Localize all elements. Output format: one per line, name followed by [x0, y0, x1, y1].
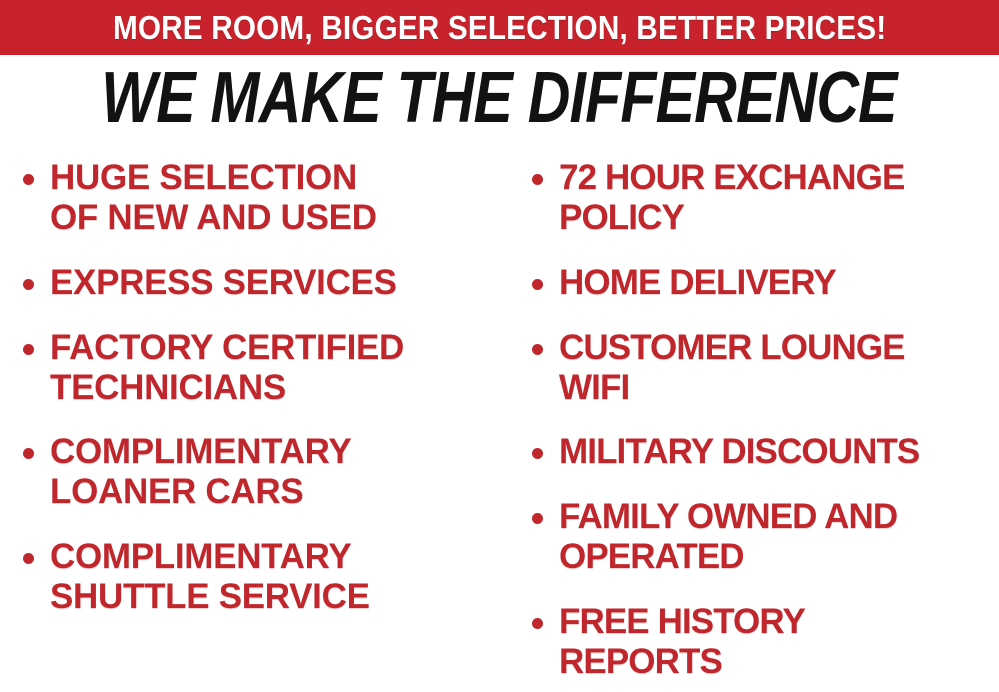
- list-item-line1: EXPRESS SERVICES: [50, 263, 397, 302]
- list-item: HOME DELIVERY: [525, 263, 997, 303]
- announcement-text: MORE ROOM, BIGGER SELECTION, BETTER PRIC…: [113, 11, 886, 44]
- announcement-bar: MORE ROOM, BIGGER SELECTION, BETTER PRIC…: [0, 0, 999, 55]
- headline: WE MAKE THE DIFFERENCE: [0, 62, 999, 135]
- list-item-label: FREE HISTORY REPORTS: [559, 602, 997, 682]
- list-item-label: 72 HOUR EXCHANGE POLICY: [559, 158, 997, 238]
- list-item-line1: CUSTOMER LOUNGE: [559, 328, 905, 367]
- list-item: FREE HISTORY REPORTS: [525, 602, 997, 682]
- list-item-line2: LOANER CARS: [50, 472, 501, 512]
- list-item-label: HUGE SELECTION OF NEW AND USED: [50, 158, 501, 238]
- list-item-line2: TECHNICIANS: [50, 368, 501, 408]
- bullet-dot-icon: [23, 553, 34, 564]
- list-item-line1: HUGE SELECTION: [50, 158, 357, 197]
- list-item-label: COMPLIMENTARY SHUTTLE SERVICE: [50, 537, 501, 617]
- list-item-line2: OPERATED: [559, 537, 997, 577]
- list-item-label: MILITARY DISCOUNTS: [559, 432, 997, 472]
- list-item: MILITARY DISCOUNTS: [525, 432, 997, 472]
- feature-column-right: 72 HOUR EXCHANGE POLICY HOME DELIVERY CU…: [505, 158, 999, 692]
- list-item-label: COMPLIMENTARY LOANER CARS: [50, 432, 501, 512]
- list-item-line1: COMPLIMENTARY: [50, 537, 351, 576]
- bullet-dot-icon: [532, 279, 543, 290]
- list-item-line1: FACTORY CERTIFIED: [50, 328, 404, 367]
- list-item-label: EXPRESS SERVICES: [50, 263, 501, 303]
- bullet-dot-icon: [23, 448, 34, 459]
- list-item-line2: WIFI: [559, 368, 997, 408]
- list-item-line2: REPORTS: [559, 642, 997, 682]
- list-item-label: CUSTOMER LOUNGE WIFI: [559, 328, 997, 408]
- list-item-line2: SHUTTLE SERVICE: [50, 577, 501, 617]
- list-item: EXPRESS SERVICES: [16, 263, 501, 303]
- bullet-dot-icon: [532, 618, 543, 629]
- list-item: COMPLIMENTARY SHUTTLE SERVICE: [16, 537, 501, 617]
- list-item: COMPLIMENTARY LOANER CARS: [16, 432, 501, 512]
- list-item-label: FACTORY CERTIFIED TECHNICIANS: [50, 328, 501, 408]
- feature-columns: HUGE SELECTION OF NEW AND USED EXPRESS S…: [0, 158, 999, 692]
- list-item-line1: 72 HOUR EXCHANGE: [559, 158, 904, 197]
- list-item-line1: MILITARY DISCOUNTS: [559, 432, 919, 471]
- list-item-line2: POLICY: [559, 198, 997, 238]
- bullet-dot-icon: [532, 174, 543, 185]
- list-item-line1: HOME DELIVERY: [559, 263, 836, 302]
- list-item-line1: COMPLIMENTARY: [50, 432, 351, 471]
- list-item: CUSTOMER LOUNGE WIFI: [525, 328, 997, 408]
- promo-banner: MORE ROOM, BIGGER SELECTION, BETTER PRIC…: [0, 0, 999, 692]
- list-item-line1: FAMILY OWNED AND: [559, 497, 897, 536]
- list-item-label: FAMILY OWNED AND OPERATED: [559, 497, 997, 577]
- list-item: HUGE SELECTION OF NEW AND USED: [16, 158, 501, 238]
- headline-text: WE MAKE THE DIFFERENCE: [102, 62, 897, 135]
- list-item-line2: OF NEW AND USED: [50, 198, 501, 238]
- bullet-dot-icon: [23, 279, 34, 290]
- list-item-line1: FREE HISTORY: [559, 602, 805, 641]
- list-item: FACTORY CERTIFIED TECHNICIANS: [16, 328, 501, 408]
- feature-column-left: HUGE SELECTION OF NEW AND USED EXPRESS S…: [0, 158, 505, 642]
- list-item: 72 HOUR EXCHANGE POLICY: [525, 158, 997, 238]
- bullet-dot-icon: [532, 448, 543, 459]
- bullet-dot-icon: [532, 344, 543, 355]
- bullet-dot-icon: [23, 344, 34, 355]
- list-item: FAMILY OWNED AND OPERATED: [525, 497, 997, 577]
- bullet-dot-icon: [23, 174, 34, 185]
- bullet-dot-icon: [532, 513, 543, 524]
- list-item-label: HOME DELIVERY: [559, 263, 997, 303]
